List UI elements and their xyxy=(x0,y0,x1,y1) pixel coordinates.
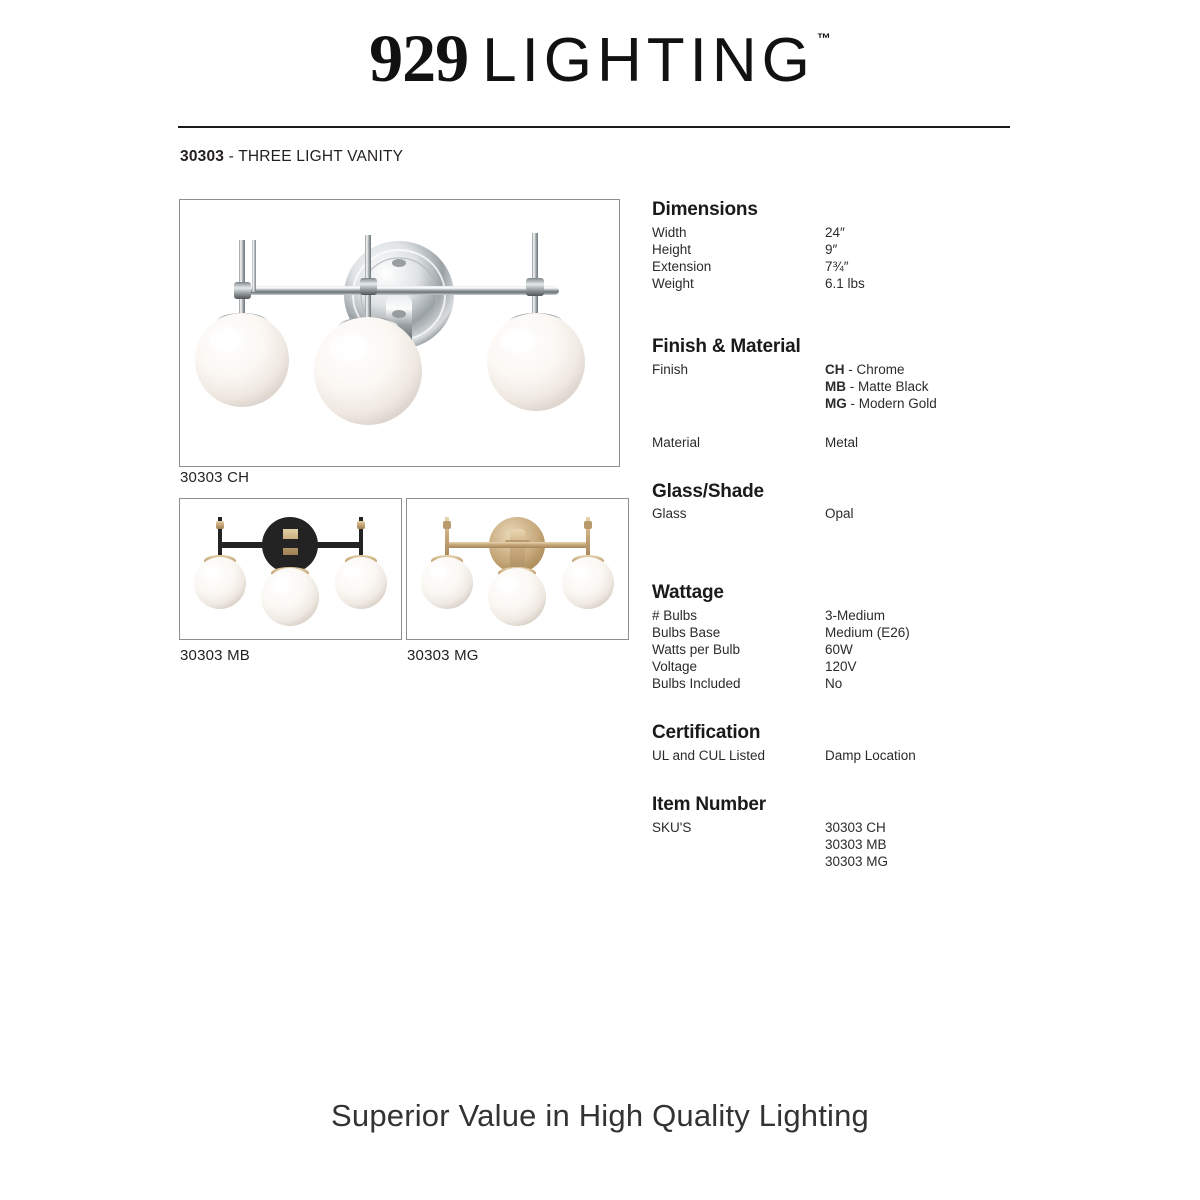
crossbar-matte-black xyxy=(220,542,362,548)
spec-value: 9″ xyxy=(825,241,1052,258)
product-name: THREE LIGHT VANITY xyxy=(238,148,403,165)
section-item-number: Item Number SKU'S 30303 CH 30303 MB 3030… xyxy=(652,794,1052,870)
spacer xyxy=(652,566,1052,582)
spec-value: 6.1 lbs xyxy=(825,275,1052,292)
spacer xyxy=(652,692,1052,722)
spec-key: Bulbs Included xyxy=(652,675,825,692)
spec-key-empty xyxy=(652,378,825,395)
light-arm-right xyxy=(562,517,614,609)
section-heading-finish-material: Finish & Material xyxy=(652,336,1052,359)
spacer xyxy=(652,522,1052,566)
finish-name-mg: - Modern Gold xyxy=(847,396,937,411)
finish-name-ch: - Chrome xyxy=(845,362,905,377)
title-separator: - xyxy=(224,148,238,165)
light-arm-right xyxy=(335,517,387,609)
spec-row-glass: Glass Opal xyxy=(652,505,1052,522)
fixture-illustration-matte-black xyxy=(180,499,401,639)
spec-sheet: 929 LIGHTING ™ 30303 - THREE LIGHT VANIT… xyxy=(0,0,1200,1200)
brand-logo: 929 LIGHTING ™ xyxy=(0,24,1200,92)
spec-value: 60W xyxy=(825,641,1052,658)
spec-key: SKU'S xyxy=(652,819,825,836)
spacer xyxy=(652,292,1052,336)
spec-value: No xyxy=(825,675,1052,692)
spec-row-bulbs-base: Bulbs Base Medium (E26) xyxy=(652,624,1052,641)
spec-row-weight: Weight 6.1 lbs xyxy=(652,275,1052,292)
page-title: 30303 - THREE LIGHT VANITY xyxy=(180,148,403,166)
sku-value: 30303 CH xyxy=(825,819,1052,836)
specifications: Dimensions Width 24″ Height 9″ Extension… xyxy=(652,199,1052,870)
product-image-mg[interactable] xyxy=(406,498,629,640)
spec-row-num-bulbs: # Bulbs 3-Medium xyxy=(652,607,1052,624)
section-heading-item-number: Item Number xyxy=(652,794,1052,817)
finish-code-mb: MB xyxy=(825,379,846,394)
section-heading-glass-shade: Glass/Shade xyxy=(652,481,1052,504)
sku-value: 30303 MG xyxy=(825,853,1052,870)
spec-key: Glass xyxy=(652,505,825,522)
light-arm-center xyxy=(488,568,546,626)
section-heading-wattage: Wattage xyxy=(652,582,1052,605)
header-divider xyxy=(178,126,1010,128)
trademark-icon: ™ xyxy=(817,30,831,46)
finish-code-mg: MG xyxy=(825,396,847,411)
spec-key: Finish xyxy=(652,361,825,378)
spec-key: Watts per Bulb xyxy=(652,641,825,658)
spec-value: 120V xyxy=(825,658,1052,675)
spacer xyxy=(652,451,1052,481)
spec-row-ul-cul: UL and CUL Listed Damp Location xyxy=(652,747,1052,764)
product-code: 30303 xyxy=(180,148,224,165)
spec-value: Opal xyxy=(825,505,1052,522)
spec-row-sku-1: SKU'S 30303 CH xyxy=(652,819,1052,836)
spec-row-sku-2: 30303 MB xyxy=(652,836,1052,853)
spec-value: 3-Medium xyxy=(825,607,1052,624)
spec-value: CH - Chrome xyxy=(825,361,1052,378)
spec-key: UL and CUL Listed xyxy=(652,747,825,764)
light-arm-right xyxy=(487,233,585,411)
product-image-mb[interactable] xyxy=(179,498,402,640)
section-wattage: Wattage # Bulbs 3-Medium Bulbs Base Medi… xyxy=(652,582,1052,692)
spec-key: Height xyxy=(652,241,825,258)
spec-key: # Bulbs xyxy=(652,607,825,624)
spec-key: Material xyxy=(652,434,825,451)
sku-value: 30303 MB xyxy=(825,836,1052,853)
light-arm-center xyxy=(261,568,319,626)
spec-key-empty xyxy=(652,836,825,853)
product-image-ch[interactable] xyxy=(179,199,620,467)
spec-value: Medium (E26) xyxy=(825,624,1052,641)
spec-row-height: Height 9″ xyxy=(652,241,1052,258)
spec-value: 7¾″ xyxy=(825,258,1052,275)
spacer xyxy=(652,412,1052,434)
section-finish-material: Finish & Material Finish CH - Chrome MB … xyxy=(652,336,1052,451)
spec-value: 24″ xyxy=(825,224,1052,241)
logo-numerals: 929 xyxy=(369,24,468,92)
fixture-illustration-chrome xyxy=(180,200,619,466)
spec-row-voltage: Voltage 120V xyxy=(652,658,1052,675)
spec-row-watts-per-bulb: Watts per Bulb 60W xyxy=(652,641,1052,658)
spec-value: MB - Matte Black xyxy=(825,378,1052,395)
spec-key: Bulbs Base xyxy=(652,624,825,641)
image-label-mb: 30303 MB xyxy=(180,647,250,664)
spec-row-bulbs-included: Bulbs Included No xyxy=(652,675,1052,692)
spec-row-sku-3: 30303 MG xyxy=(652,853,1052,870)
spec-key: Weight xyxy=(652,275,825,292)
section-heading-certification: Certification xyxy=(652,722,1052,745)
light-arm-left xyxy=(194,517,246,609)
crossbar-modern-gold xyxy=(447,542,589,548)
spec-value: Metal xyxy=(825,434,1052,451)
spec-row-extension: Extension 7¾″ xyxy=(652,258,1052,275)
spec-key: Width xyxy=(652,224,825,241)
spec-key-empty xyxy=(652,395,825,412)
image-label-ch: 30303 CH xyxy=(180,469,249,486)
spec-row-material: Material Metal xyxy=(652,434,1052,451)
spec-row-finish-mb: MB - Matte Black xyxy=(652,378,1052,395)
logo-wordmark: LIGHTING xyxy=(482,30,815,92)
crossbar-chrome xyxy=(240,286,559,295)
spec-row-width: Width 24″ xyxy=(652,224,1052,241)
section-heading-dimensions: Dimensions xyxy=(652,199,1052,222)
image-label-mg: 30303 MG xyxy=(407,647,479,664)
spacer xyxy=(652,764,1052,794)
spec-value: Damp Location xyxy=(825,747,1052,764)
spec-row-finish: Finish CH - Chrome xyxy=(652,361,1052,378)
finish-code-ch: CH xyxy=(825,362,845,377)
section-certification: Certification UL and CUL Listed Damp Loc… xyxy=(652,722,1052,764)
finish-name-mb: - Matte Black xyxy=(846,379,929,394)
spec-key: Extension xyxy=(652,258,825,275)
section-dimensions: Dimensions Width 24″ Height 9″ Extension… xyxy=(652,199,1052,292)
spec-key-empty xyxy=(652,853,825,870)
spec-row-finish-mg: MG - Modern Gold xyxy=(652,395,1052,412)
section-glass-shade: Glass/Shade Glass Opal xyxy=(652,481,1052,523)
light-arm-left xyxy=(195,240,289,407)
light-arm-left xyxy=(421,517,473,609)
footer-tagline: Superior Value in High Quality Lighting xyxy=(0,1098,1200,1134)
fixture-illustration-modern-gold xyxy=(407,499,628,639)
spec-value: MG - Modern Gold xyxy=(825,395,1052,412)
spec-key: Voltage xyxy=(652,658,825,675)
